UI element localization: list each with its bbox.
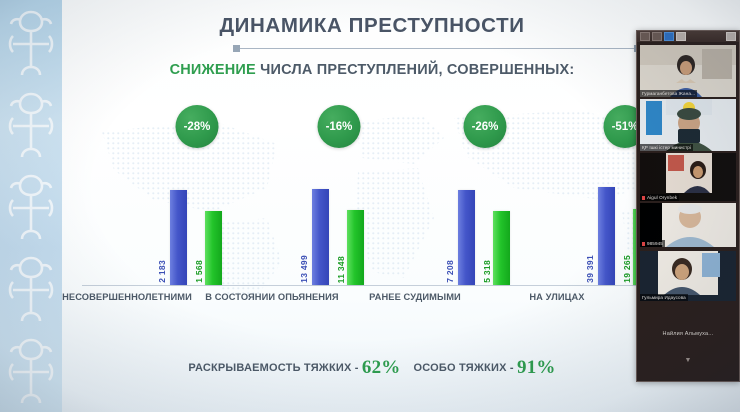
video-call-panel[interactable]: Гурмаганбетова Жана... ҚР Ішкі істер мин… <box>636 30 740 382</box>
bar-value-previous: 7 208 <box>445 260 455 283</box>
participant-name: 985945 <box>640 240 665 247</box>
screen: ДИНАМИКА ПРЕСТУПНОСТИ СНИЖЕНИЕ ЧИСЛА ПРЕ… <box>0 0 740 412</box>
bar-previous <box>170 190 187 285</box>
subtitle-rest: ЧИСЛА ПРЕСТУПЛЕНИЙ, СОВЕРШЕННЫХ: <box>256 62 575 78</box>
bar-value-current: 11 348 <box>336 256 346 283</box>
mic-muted-icon <box>642 196 645 200</box>
change-badge: -16% <box>318 105 361 148</box>
participant-tile-active-speaker[interactable]: ҚР Ішкі істер министрі <box>640 99 736 151</box>
bar-current <box>347 210 364 285</box>
footer-label-grave: РАСКРЫВАЕМОСТЬ ТЯЖКИХ - <box>188 362 358 374</box>
bar-pair: 7 208 5 318 <box>453 160 517 285</box>
kazakh-ornament-icon <box>3 6 59 84</box>
participant-tile[interactable]: Гурмаганбетова Жана... <box>640 45 736 97</box>
bar-value-previous: 2 183 <box>157 260 167 283</box>
bar-value-previous: 39 391 <box>585 255 595 283</box>
participant-tile[interactable]: Гульмира Идаусова <box>640 251 736 301</box>
participant-name: ҚР Ішкі істер министрі <box>640 144 693 151</box>
bar-previous <box>598 187 615 285</box>
participant-name: Aigul Orynbek <box>640 194 679 201</box>
category-label: НЕСОВЕРШЕННОЛЕТНИМИ <box>52 292 202 304</box>
chevron-down-icon[interactable]: ▼ <box>637 357 739 364</box>
bar-group: -28% 2 183 1 568 <box>132 105 262 285</box>
subtitle-highlight: СНИЖЕНИЕ <box>170 62 256 78</box>
kazakh-ornament-icon <box>3 88 59 166</box>
participant-name-text: Aigul Orynbek <box>647 195 677 200</box>
close-icon[interactable] <box>726 32 736 41</box>
kazakh-ornament-icon <box>3 170 59 248</box>
category-label: В СОСТОЯНИИ ОПЬЯНЕНИЯ <box>197 292 347 304</box>
ornament-border-left <box>0 0 62 412</box>
bar-current <box>493 211 510 285</box>
footer-stats: РАСКРЫВАЕМОСТЬ ТЯЖКИХ - 62% ОСОБО ТЯЖКИХ… <box>62 357 682 379</box>
video-call-toolbar[interactable] <box>637 31 739 42</box>
change-badge: -26% <box>464 105 507 148</box>
footer-value-grave: 62% <box>362 357 401 378</box>
bar-value-previous: 13 499 <box>299 255 309 283</box>
kazakh-ornament-icon <box>3 334 59 412</box>
participant-tile[interactable]: Aigul Orynbek <box>640 153 736 201</box>
participant-name-text: 985945 <box>647 241 663 246</box>
participant-name: Гурмаганбетова Жана... <box>640 90 697 97</box>
page-title: ДИНАМИКА ПРЕСТУПНОСТИ <box>62 14 682 38</box>
layout-speaker-icon[interactable] <box>640 32 650 41</box>
bar-previous <box>458 190 475 285</box>
bar-current <box>205 211 222 285</box>
bar-value-current: 1 568 <box>194 260 204 283</box>
bar-previous <box>312 189 329 285</box>
layout-gallery-icon[interactable] <box>652 32 662 41</box>
kazakh-ornament-icon <box>3 252 59 330</box>
layout-strip-icon[interactable] <box>676 32 686 41</box>
mic-muted-icon <box>642 242 645 246</box>
bar-chart: -28% 2 183 1 568 -16% 13 499 11 348 <box>132 105 692 285</box>
participant-tile[interactable]: 985945 <box>640 203 736 247</box>
layout-active-icon[interactable] <box>664 32 674 41</box>
change-badge: -28% <box>176 105 219 148</box>
title-divider <box>237 48 637 49</box>
participant-name: Гульмира Идаусова <box>640 294 688 301</box>
bar-value-current: 5 318 <box>482 260 492 283</box>
bar-group: -26% 7 208 5 318 <box>420 105 550 285</box>
bar-pair: 2 183 1 568 <box>165 160 229 285</box>
chart-baseline <box>82 285 672 286</box>
bar-group: -16% 13 499 11 348 <box>274 105 404 285</box>
footer-value-especially-grave: 91% <box>517 357 556 378</box>
bar-value-current: 19 265 <box>622 255 632 283</box>
bar-pair: 13 499 11 348 <box>307 160 371 285</box>
call-status-text: Найлия Альмуха... <box>637 331 739 337</box>
category-label: РАНЕЕ СУДИМЫМИ <box>340 292 490 304</box>
footer-label-especially-grave: ОСОБО ТЯЖКИХ - <box>414 362 514 374</box>
subtitle: СНИЖЕНИЕ ЧИСЛА ПРЕСТУПЛЕНИЙ, СОВЕРШЕННЫХ… <box>62 62 682 78</box>
category-label: НА УЛИЦАХ <box>482 292 632 304</box>
